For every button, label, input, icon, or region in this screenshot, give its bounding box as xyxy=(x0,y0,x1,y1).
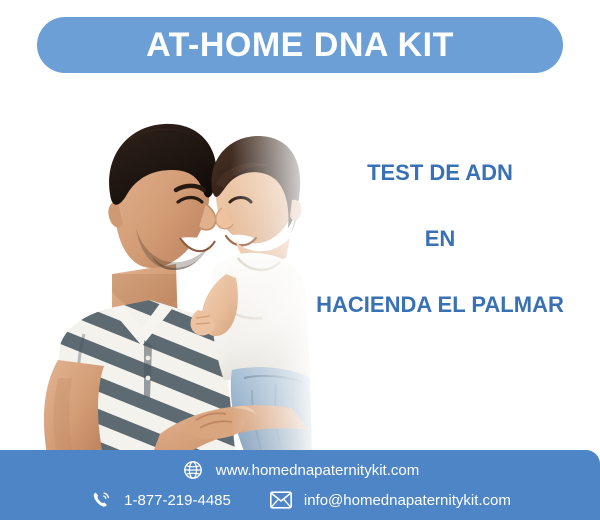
headline-line-3: HACIENDA EL PALMAR xyxy=(290,292,590,318)
poster-canvas: AT-HOME DNA KIT xyxy=(0,0,600,520)
globe-icon xyxy=(181,458,205,482)
footer-email-text[interactable]: info@homednapaternitykit.com xyxy=(304,492,511,509)
headline-line-1: TEST DE ADN xyxy=(290,160,590,186)
envelope-icon xyxy=(269,488,293,512)
footer-phone-item[interactable]: 1-877-219-4485 xyxy=(89,488,231,512)
page-title: AT-HOME DNA KIT xyxy=(146,28,454,62)
footer-bar: www.homednapaternitykit.com 1-877-219-44… xyxy=(0,450,600,520)
header-banner: AT-HOME DNA KIT xyxy=(37,17,563,73)
family-photo-illustration xyxy=(0,78,320,460)
phone-icon xyxy=(89,488,113,512)
footer-contact-row: 1-877-219-4485 info@homednapaternitykit.… xyxy=(0,488,600,512)
footer-website-row: www.homednapaternitykit.com xyxy=(0,458,600,482)
headline-block: TEST DE ADN EN HACIENDA EL PALMAR xyxy=(290,160,590,318)
footer-email-item[interactable]: info@homednapaternitykit.com xyxy=(269,488,511,512)
footer-phone-text[interactable]: 1-877-219-4485 xyxy=(124,492,231,509)
family-photo xyxy=(0,78,320,460)
footer-website-text[interactable]: www.homednapaternitykit.com xyxy=(216,462,419,479)
headline-line-2: EN xyxy=(290,226,590,252)
